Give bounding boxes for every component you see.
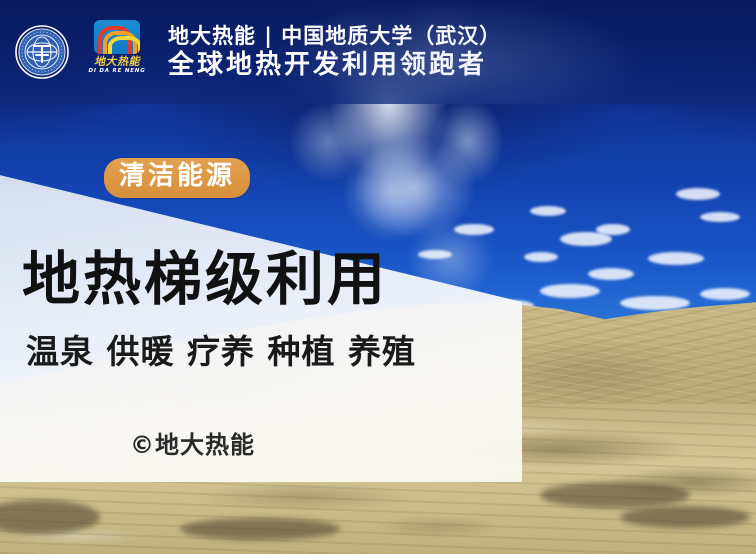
page-title: 地热梯级利用 bbox=[22, 248, 388, 312]
header-text-block: 地大热能 | 中国地质大学（武汉） 全球地热开发利用领跑者 bbox=[168, 23, 501, 82]
didareneng-logo-icon: 地大热能 DI DA RE NENG bbox=[82, 20, 152, 84]
copyright-notice: ©地大热能 bbox=[130, 432, 255, 458]
dark-patch bbox=[540, 482, 690, 508]
logo-chinese-label: 地大热能 bbox=[94, 56, 140, 68]
dark-patch bbox=[620, 506, 750, 528]
cloud-icon bbox=[524, 252, 558, 262]
cloud-icon bbox=[540, 284, 600, 298]
cloud-icon bbox=[530, 206, 566, 216]
cloud-icon bbox=[588, 268, 634, 280]
cloud-icon bbox=[700, 212, 740, 222]
logo-tile-icon bbox=[94, 20, 140, 54]
brand-header: 地大热能 DI DA RE NENG 地大热能 | 中国地质大学（武汉） 全球地… bbox=[0, 0, 756, 104]
page-subtitle: 温泉 供暖 疗养 种植 养殖 bbox=[26, 334, 416, 370]
poster-canvas: 地大热能 DI DA RE NENG 地大热能 | 中国地质大学（武汉） 全球地… bbox=[0, 0, 756, 554]
logo-pinyin-label: DI DA RE NENG bbox=[88, 68, 145, 74]
university-seal-icon bbox=[14, 24, 70, 80]
dark-patch bbox=[180, 518, 340, 540]
cloud-icon bbox=[418, 250, 452, 259]
header-title-line2: 全球地热开发利用领跑者 bbox=[168, 49, 501, 82]
cloud-icon bbox=[620, 296, 690, 310]
header-title-line1: 地大热能 | 中国地质大学（武汉） bbox=[168, 23, 501, 49]
cloud-icon bbox=[676, 188, 720, 200]
category-badge: 清洁能源 bbox=[104, 158, 250, 198]
cloud-icon bbox=[700, 288, 750, 300]
cloud-icon bbox=[596, 224, 630, 235]
cloud-icon bbox=[454, 224, 494, 235]
cloud-icon bbox=[648, 252, 704, 265]
